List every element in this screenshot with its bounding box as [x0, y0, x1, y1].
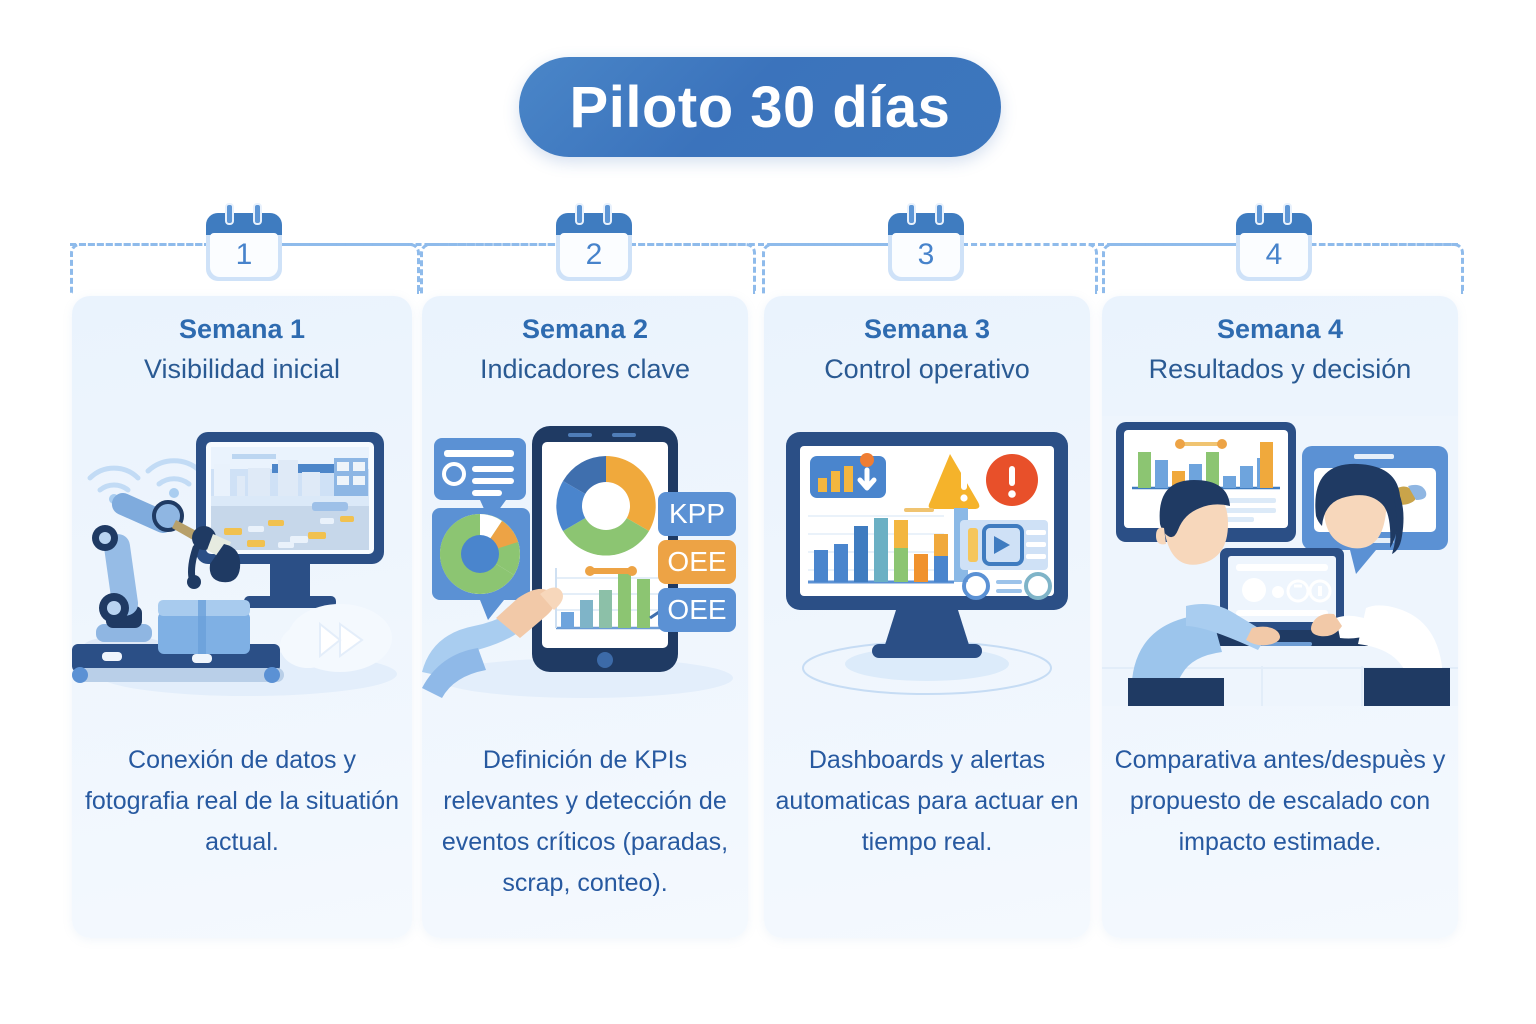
- calendar-body: 3: [892, 233, 960, 277]
- calendar-number: 1: [236, 240, 253, 270]
- calendar-badge-4: 4: [1236, 203, 1312, 281]
- calendar-body: 4: [1240, 233, 1308, 277]
- week-card-3-title: Semana 3: [764, 314, 1090, 345]
- calendar-ring-right-icon: [603, 203, 612, 225]
- illustration-tablet-charts-hand: KPP OEE OEE: [422, 416, 748, 706]
- week-card-4: Semana 4 Resultados y decisión: [1102, 296, 1458, 938]
- alert-circle-icon: [986, 454, 1038, 506]
- calendar-badge-2: 2: [556, 203, 632, 281]
- calendar-header-bar: [888, 213, 964, 235]
- page-title: Piloto 30 días: [570, 74, 951, 141]
- week-card-4-title: Semana 4: [1102, 314, 1458, 345]
- week-card-2: Semana 2 Indicadores clave: [422, 296, 748, 938]
- calendar-header-bar: [556, 213, 632, 235]
- week-card-1: Semana 1 Visibilidad inicial: [72, 296, 412, 938]
- week-card-2-subtitle: Indicadores clave: [422, 354, 748, 385]
- svg-text:KPP: KPP: [669, 498, 725, 529]
- illustration-robot-arm-conveyor-monitor: [72, 416, 412, 706]
- calendar-header-bar: [1236, 213, 1312, 235]
- week-card-3-subtitle: Control operativo: [764, 354, 1090, 385]
- calendar-ring-left-icon: [1255, 203, 1264, 225]
- calendar-body: 2: [560, 233, 628, 277]
- week-card-1-body: Conexión de datos y fotografia real de l…: [78, 740, 406, 863]
- svg-text:OEE: OEE: [667, 594, 726, 625]
- calendar-ring-left-icon: [907, 203, 916, 225]
- svg-text:OEE: OEE: [667, 546, 726, 577]
- week-card-1-title: Semana 1: [72, 314, 412, 345]
- calendar-body: 1: [210, 233, 278, 277]
- week-card-3-body: Dashboards y alertas automaticas para ac…: [770, 740, 1084, 863]
- calendar-ring-left-icon: [225, 203, 234, 225]
- week-card-2-title: Semana 2: [422, 314, 748, 345]
- calendar-ring-right-icon: [935, 203, 944, 225]
- calendar-badge-1: 1: [206, 203, 282, 281]
- week-card-2-body: Definición de KPIs relevantes y detecció…: [428, 740, 742, 904]
- week-card-4-body: Comparativa antes/despuès y propuesto de…: [1108, 740, 1452, 863]
- calendar-ring-right-icon: [253, 203, 262, 225]
- illustration-desktop-monitor-alerts: [764, 416, 1090, 706]
- calendar-ring-left-icon: [575, 203, 584, 225]
- week-card-4-subtitle: Resultados y decisión: [1102, 354, 1458, 385]
- page-title-pill: Piloto 30 días: [519, 57, 1001, 157]
- calendar-number: 2: [586, 240, 603, 270]
- calendar-number: 3: [918, 240, 935, 270]
- calendar-header-bar: [206, 213, 282, 235]
- week-card-3: Semana 3 Control operativo: [764, 296, 1090, 938]
- week-card-1-subtitle: Visibilidad inicial: [72, 354, 412, 385]
- calendar-number: 4: [1266, 240, 1283, 270]
- kpi-badge-group: KPP OEE OEE: [658, 492, 736, 632]
- calendar-badge-3: 3: [888, 203, 964, 281]
- illustration-two-people-laptop-dashboards: [1102, 416, 1458, 706]
- calendar-ring-right-icon: [1283, 203, 1292, 225]
